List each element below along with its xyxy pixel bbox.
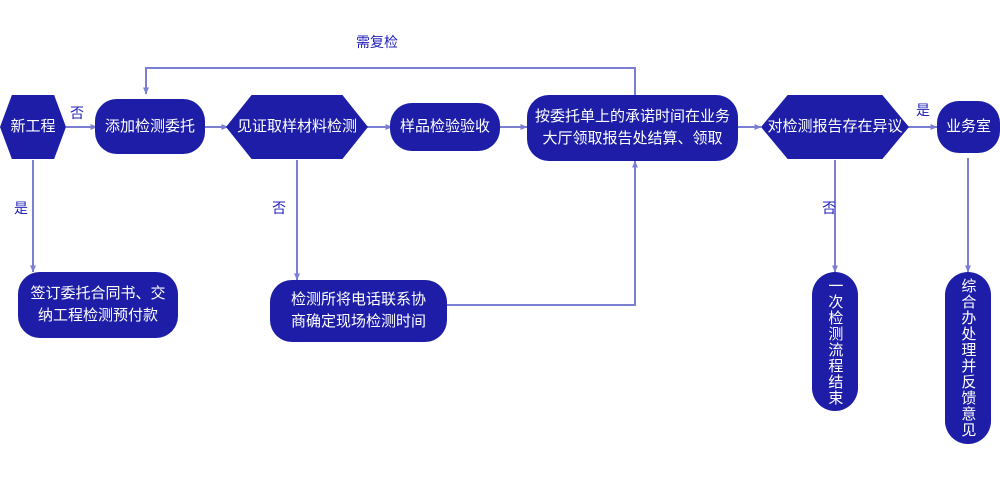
node-label: 新工程 — [4, 116, 61, 138]
edge-n9-n5 — [447, 161, 635, 305]
node-test-process-end[interactable]: 一次检测流程结束 — [812, 272, 858, 411]
edge-label-no-n1-n2: 否 — [70, 103, 84, 123]
node-sample-inspection-acceptance[interactable]: 样品检验验收 — [390, 103, 500, 151]
node-label: 综合办处理并反馈意见 — [959, 278, 978, 438]
edge-n5-n2-recheck — [146, 68, 635, 95]
node-label: 见证取样材料检测 — [231, 116, 363, 138]
node-witness-sampling-test[interactable]: 见证取样材料检测 — [226, 95, 368, 159]
node-label: 业务室 — [946, 116, 991, 138]
node-sign-contract-prepayment[interactable]: 签订委托合同书、交 纳工程检测预付款 — [18, 272, 178, 338]
node-add-test-commission[interactable]: 添加检测委托 — [95, 99, 205, 154]
flowchart-canvas: 新工程 添加检测委托 见证取样材料检测 样品检验验收 按委托单上的承诺时间在业务… — [0, 0, 1000, 500]
node-label: 样品检验验收 — [400, 116, 490, 138]
node-label: 检测所将电话联系协 商确定现场检测时间 — [291, 289, 426, 333]
edge-label-yes-n1-n8: 是 — [14, 198, 28, 218]
node-report-objection[interactable]: 对检测报告存在异议 — [761, 95, 909, 159]
node-label: 按委托单上的承诺时间在业务 大厅领取报告处结算、领取 — [535, 106, 730, 150]
edge-label-recheck: 需复检 — [356, 32, 398, 52]
node-label: 签订委托合同书、交 纳工程检测预付款 — [30, 283, 165, 327]
node-new-project[interactable]: 新工程 — [0, 95, 66, 159]
node-label: 对检测报告存在异议 — [761, 116, 908, 138]
edge-label-no-n3-n9: 否 — [272, 198, 286, 218]
node-label: 一次检测流程结束 — [826, 278, 845, 406]
node-business-office[interactable]: 业务室 — [937, 101, 1000, 153]
node-label: 添加检测委托 — [105, 116, 195, 138]
edge-label-no-n6-n10: 否 — [822, 198, 836, 218]
edge-label-yes-n6-n7: 是 — [916, 100, 930, 120]
node-office-handle-feedback[interactable]: 综合办处理并反馈意见 — [945, 272, 991, 444]
flowchart-connectors — [0, 0, 1000, 500]
node-phone-arrange-onsite-test[interactable]: 检测所将电话联系协 商确定现场检测时间 — [270, 280, 447, 342]
node-collect-report-settlement[interactable]: 按委托单上的承诺时间在业务 大厅领取报告处结算、领取 — [527, 95, 738, 161]
